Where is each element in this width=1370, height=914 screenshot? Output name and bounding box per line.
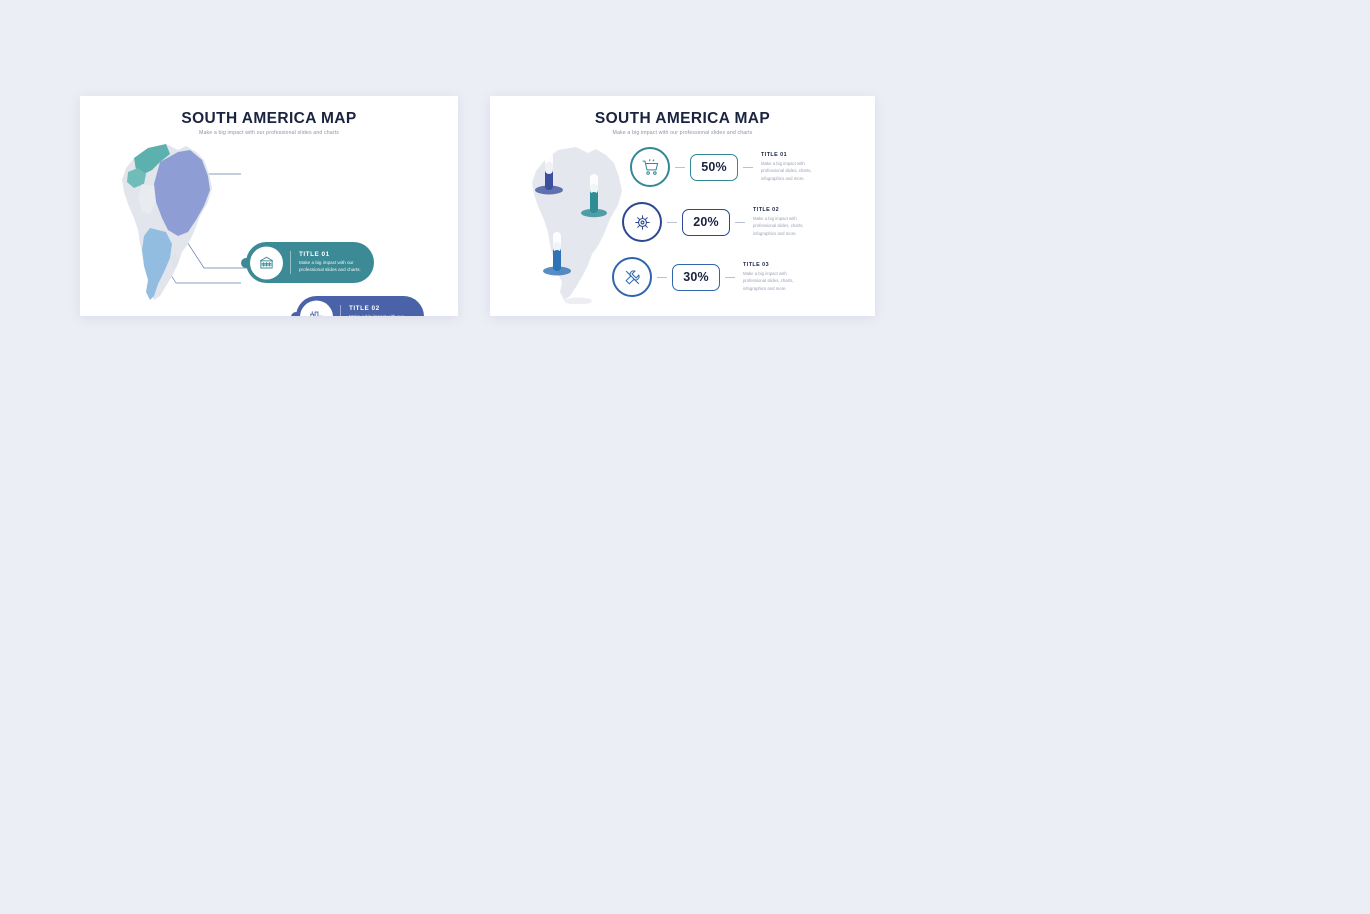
bar-chart-books-icon xyxy=(300,300,333,316)
percent-row-1-title: TITLE 01 xyxy=(761,152,823,158)
percent-row-3-title: TITLE 03 xyxy=(743,262,805,268)
callout-card-1-text: TITLE 01 Make a big impact with our prof… xyxy=(290,251,374,274)
percent-row-3[interactable]: 30% TITLE 03 Make a big impact with prof… xyxy=(612,254,805,300)
slide-map-percentages[interactable]: SOUTH AMERICA MAP Make a big impact with… xyxy=(490,96,875,316)
page-subtitle: Make a big impact with our professional … xyxy=(490,130,875,136)
callout-card-2[interactable]: TITLE 02 Make a big impact with our prof… xyxy=(296,296,424,316)
slide-map-callouts[interactable]: SOUTH AMERICA MAP Make a big impact with… xyxy=(80,96,458,316)
page-title: SOUTH AMERICA MAP xyxy=(80,110,458,127)
divider-dash xyxy=(675,167,685,168)
callout-card-2-title: TITLE 02 xyxy=(349,305,424,312)
callout-card-1-description: Make a big impact with our professional … xyxy=(299,260,374,274)
percent-row-2-description: Make a big impact with professional slid… xyxy=(753,215,815,236)
slide-2-header: SOUTH AMERICA MAP Make a big impact with… xyxy=(490,110,875,136)
compass-network-icon[interactable] xyxy=(622,202,662,242)
page-subtitle: Make a big impact with our professional … xyxy=(80,130,458,136)
percent-badge-1: 50% xyxy=(690,154,738,181)
percent-value-1: 50% xyxy=(701,160,727,174)
divider-dash xyxy=(657,277,667,278)
callout-card-2-text: TITLE 02 Make a big impact with our prof… xyxy=(340,305,424,316)
callout-card-1[interactable]: TITLE 01 Make a big impact with our prof… xyxy=(246,242,374,283)
percent-row-1-text: TITLE 01 Make a big impact with professi… xyxy=(761,152,823,181)
slide-1-header: SOUTH AMERICA MAP Make a big impact with… xyxy=(80,110,458,136)
divider-dash xyxy=(667,222,677,223)
divider-dash xyxy=(725,277,735,278)
percent-badge-2: 20% xyxy=(682,209,730,236)
percent-row-2-text: TITLE 02 Make a big impact with professi… xyxy=(753,207,815,236)
shopping-cart-icon[interactable] xyxy=(630,147,670,187)
wrench-tools-icon[interactable] xyxy=(612,257,652,297)
page-title: SOUTH AMERICA MAP xyxy=(490,110,875,127)
percent-row-1-description: Make a big impact with professional slid… xyxy=(761,160,823,181)
south-america-map[interactable] xyxy=(108,140,238,305)
callout-card-2-description: Make a big impact with our professional … xyxy=(349,314,424,316)
divider-dash xyxy=(743,167,753,168)
percent-row-3-text: TITLE 03 Make a big impact with professi… xyxy=(743,262,805,291)
percent-row-3-description: Make a big impact with professional slid… xyxy=(743,270,805,291)
percent-value-3: 30% xyxy=(683,270,709,284)
percent-row-2-title: TITLE 02 xyxy=(753,207,815,213)
divider-dash xyxy=(735,222,745,223)
bank-building-icon xyxy=(250,246,283,279)
percent-row-1[interactable]: 50% TITLE 01 Make a big impact with prof… xyxy=(630,144,823,190)
callout-card-1-title: TITLE 01 xyxy=(299,251,374,258)
percent-row-2[interactable]: 20% TITLE 02 Make a big impact with prof… xyxy=(622,199,815,245)
percent-value-2: 20% xyxy=(693,215,719,229)
percent-badge-3: 30% xyxy=(672,264,720,291)
